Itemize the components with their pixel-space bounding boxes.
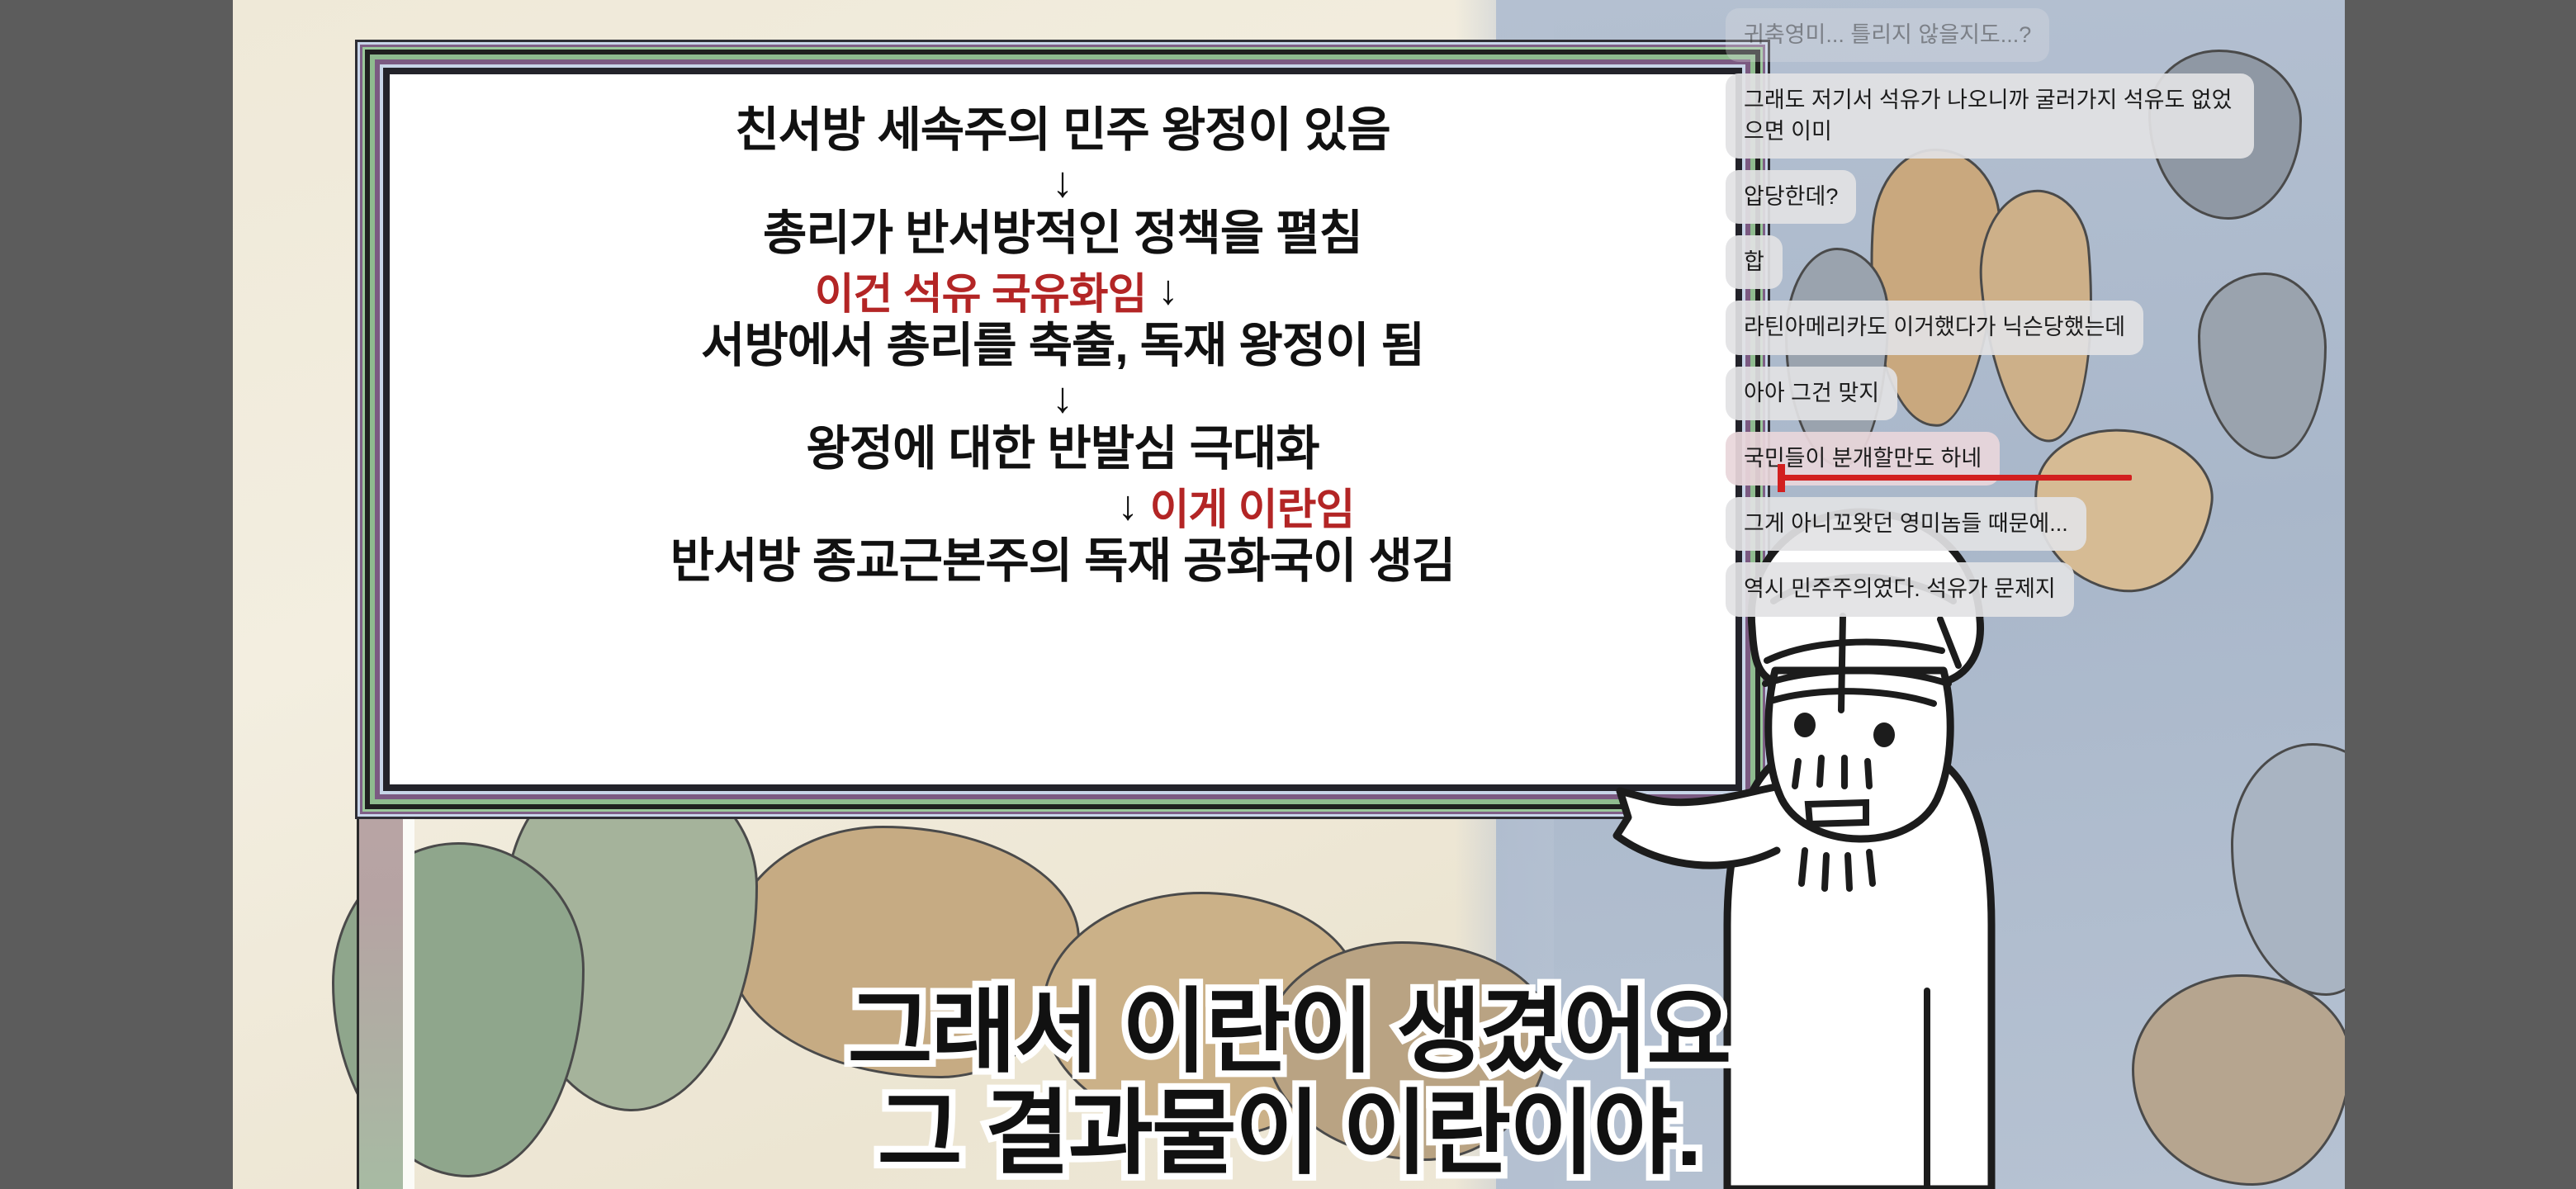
red-tick-marker [1778, 464, 1785, 492]
chat-message[interactable]: 합 [1726, 235, 1783, 289]
flowchart-slide: 친서방 세속주의 민주 왕정이 있음 ↓ 총리가 반서방적인 정책을 펼침 이건… [365, 50, 1760, 809]
video-canvas: 친서방 세속주의 민주 왕정이 있음 ↓ 총리가 반서방적인 정책을 펼침 이건… [233, 0, 2345, 1189]
chat-message[interactable]: 귀축영미... 틀리지 않을지도...? [1726, 8, 2049, 62]
flow-arrow-2: ↓ [1158, 269, 1178, 310]
chat-message[interactable]: 압당한데? [1726, 170, 1856, 224]
annotation-this-is-iran: 이게 이란임 [1150, 475, 1355, 537]
flow-step-3: 서방에서 총리를 축출, 독재 왕정이 됨 [701, 321, 1424, 372]
flow-arrow-3: ↓ [1052, 377, 1073, 419]
chat-message[interactable]: 라틴아메리카도 이거했다가 닉슨당했는데 [1726, 301, 2143, 354]
chat-overlay: 귀축영미... 틀리지 않을지도...? 그래도 저기서 석유가 나오니까 굴러… [1726, 8, 2254, 617]
flow-step-2: 총리가 반서방적인 정책을 펼침 [763, 209, 1362, 259]
flow-arrow-4: ↓ [1118, 485, 1139, 526]
subtitle-line-2: 그 결과물이 이란이야. [878, 1084, 1701, 1184]
letterbox-right [2345, 0, 2576, 1189]
flow-step-1: 친서방 세속주의 민주 왕정이 있음 [735, 106, 1390, 156]
video-frame: 친서방 세속주의 민주 왕정이 있음 ↓ 총리가 반서방적인 정책을 펼침 이건… [0, 0, 2576, 1189]
chat-message[interactable]: 역시 민주주의였다. 석유가 문제지 [1726, 562, 2074, 616]
chat-message[interactable]: 그게 아니꼬왓던 영미놈들 때문에... [1726, 497, 2086, 551]
letterbox-left [0, 0, 233, 1189]
subtitle-block: 그래서 이란이 생겼어요 그 결과물이 이란이야. [233, 983, 2345, 1184]
flow-arrow-1: ↓ [1052, 161, 1073, 204]
annotation-row-1: 이건 석유 국유화임 ↓ [324, 259, 1802, 321]
flow-step-5: 반서방 종교근본주의 독재 공화국이 생김 [670, 537, 1456, 587]
chat-message[interactable]: 그래도 저기서 석유가 나오니까 굴러가지 석유도 없었으면 이미 [1726, 73, 2254, 159]
subtitle-line-1: 그래서 이란이 생겼어요 [848, 983, 1731, 1082]
annotation-oil-nationalization: 이건 석유 국유화임 [815, 259, 1147, 321]
flow-step-4: 왕정에 대한 반발심 극대화 [806, 424, 1319, 475]
slide-content: 친서방 세속주의 민주 왕정이 있음 ↓ 총리가 반서방적인 정책을 펼침 이건… [390, 74, 1735, 784]
red-underline-marker [1782, 475, 2132, 481]
chat-message[interactable]: 아아 그건 맞지 [1726, 367, 1897, 420]
